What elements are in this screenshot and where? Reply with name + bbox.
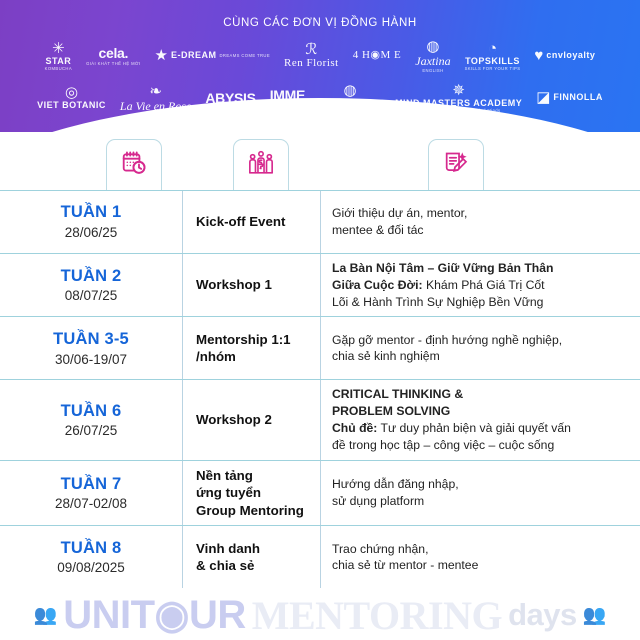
week-cell: TUẦN 3-530/06-19/07 bbox=[0, 323, 182, 374]
week-cell: TUẦN 809/08/2025 bbox=[0, 532, 182, 583]
sponsor-logo-tagline: ENGLISH bbox=[422, 69, 443, 73]
activity-description-cell: La Bàn Nội Tâm – Giữ Vững Bản ThânGiữa C… bbox=[320, 254, 640, 316]
sponsor-logo-tagline: DREAMS COME TRUE bbox=[220, 54, 271, 58]
activity-title-cell: Kick-off Event bbox=[182, 191, 320, 253]
sponsor-logo-name: FINNOLLA bbox=[553, 93, 603, 102]
watermark-unitour: UNIT◉UR bbox=[63, 592, 246, 638]
team-puzzle-icon bbox=[248, 150, 274, 181]
activity-description-line: Lõi & Hành Trình Sự Nghiệp Bền Vững bbox=[332, 294, 630, 311]
week-date: 28/07-02/08 bbox=[4, 495, 178, 513]
sponsor-logo: ◔TOPSKILLSSKILLS FOR YOUR TIPS bbox=[458, 41, 528, 72]
sponsor-logo-mark-icon: ◔ bbox=[488, 41, 497, 56]
week-label: TUẦN 8 bbox=[4, 538, 178, 559]
activity-title-line: Mentorship 1:1 bbox=[196, 331, 312, 349]
table-row: TUẦN 3-530/06-19/07Mentorship 1:1/nhómGặ… bbox=[0, 317, 640, 380]
week-cell: TUẦN 626/07/25 bbox=[0, 395, 182, 446]
people-icon-left: 👥 bbox=[34, 603, 58, 627]
sponsor-logo-mark-icon: ℛ bbox=[305, 42, 317, 57]
document-pencil-icon-cell bbox=[428, 139, 484, 190]
sponsor-logo-mark-icon: ◎ bbox=[65, 85, 78, 100]
sponsor-logo-mark-icon: ◍ bbox=[344, 83, 357, 98]
sponsor-logo-mark-icon: ★ bbox=[155, 48, 168, 63]
activity-description-line: Giữa Cuộc Đời: Khám Phá Giá Trị Cốt bbox=[332, 277, 630, 294]
sponsor-logo-name: 4 H◉M E bbox=[353, 50, 402, 62]
activity-title-line: ứng tuyển bbox=[196, 484, 312, 502]
sponsor-logo-name: E-DREAM bbox=[171, 51, 217, 60]
sponsor-logo: ◍JaxtinaENGLISH bbox=[408, 39, 457, 73]
activity-description-line: La Bàn Nội Tâm – Giữ Vững Bản Thân bbox=[332, 260, 630, 277]
week-date: 09/08/2025 bbox=[4, 559, 178, 577]
sponsor-logo: ◎VIET BOTANIC bbox=[30, 85, 113, 110]
watermark-days: days bbox=[508, 597, 577, 633]
sponsor-logo-tagline: KOMBUCHA bbox=[45, 67, 72, 71]
week-cell: TUẦN 728/07-02/08 bbox=[0, 468, 182, 519]
sponsor-logo: ✳STARKOMBUCHA bbox=[38, 41, 79, 72]
description-lead-label: Giữa Cuộc Đời: bbox=[332, 278, 423, 292]
week-cell: TUẦN 208/07/25 bbox=[0, 260, 182, 311]
banner-title: CÙNG CÁC ĐƠN VỊ ĐỒNG HÀNH bbox=[0, 17, 640, 29]
activity-title-line: /nhóm bbox=[196, 348, 312, 366]
team-puzzle-icon-cell bbox=[233, 139, 289, 190]
sponsor-logo: ♥cnvloyalty bbox=[527, 48, 602, 64]
sponsor-logo: ℛRen Florist bbox=[277, 42, 346, 70]
sponsor-logo-tagline: GIẢI KHÁT THẾ HỆ MỚI bbox=[86, 62, 140, 66]
activity-description-line: Giới thiệu dự án, mentor, bbox=[332, 205, 630, 222]
activity-description-cell: Hướng dẫn đăng nhập,sử dụng platform bbox=[320, 461, 640, 526]
document-pencil-icon bbox=[443, 150, 469, 181]
activity-title-line: Vinh danh bbox=[196, 540, 312, 558]
activity-description-cell: Trao chứng nhận,chia sẻ từ mentor - ment… bbox=[320, 526, 640, 588]
sponsor-logo: cela.GIẢI KHÁT THẾ HỆ MỚI bbox=[79, 46, 147, 66]
week-label: TUẦN 2 bbox=[4, 266, 178, 287]
activity-description-line: PROBLEM SOLVING bbox=[332, 403, 630, 420]
sponsor-logo-name: VIET BOTANIC bbox=[37, 101, 106, 110]
sponsor-logo-tagline: SKILLS FOR YOUR TIPS bbox=[465, 67, 521, 71]
activity-title-cell: Workshop 2 bbox=[182, 380, 320, 459]
schedule-table: TUẦN 128/06/25Kick-off EventGiới thiệu d… bbox=[0, 132, 640, 588]
schedule-rows: TUẦN 128/06/25Kick-off EventGiới thiệu d… bbox=[0, 190, 640, 588]
sponsor-logo-mark-icon: ◪ bbox=[536, 90, 550, 105]
table-row: TUẦN 128/06/25Kick-off EventGiới thiệu d… bbox=[0, 191, 640, 254]
table-row: TUẦN 809/08/2025Vinh danh& chia sẻTrao c… bbox=[0, 526, 640, 588]
activity-description-cell: Gặp gỡ mentor - định hướng nghề nghiệp,c… bbox=[320, 317, 640, 379]
week-label: TUẦN 1 bbox=[4, 202, 178, 223]
watermark-mentoring: MENTORING bbox=[252, 592, 502, 638]
activity-description-cell: Giới thiệu dự án, mentor,mentee & đối tá… bbox=[320, 191, 640, 253]
activity-title-line: Workshop 2 bbox=[196, 411, 312, 429]
people-icon-right: 👥 bbox=[583, 603, 607, 627]
sponsor-logo-name: TOPSKILLS bbox=[465, 57, 520, 66]
sponsor-banner: CÙNG CÁC ĐƠN VỊ ĐỒNG HÀNH ✳STARKOMBUCHAc… bbox=[0, 0, 640, 132]
activity-description-line: Trao chứng nhận, bbox=[332, 541, 630, 558]
sponsor-logo: 4 H◉M E bbox=[346, 50, 409, 62]
sponsor-logo-name: Jaxtina bbox=[415, 55, 450, 68]
week-label: TUẦN 3-5 bbox=[4, 329, 178, 350]
week-date: 28/06/25 bbox=[4, 224, 178, 242]
table-row: TUẦN 728/07-02/08Nền tảngứng tuyểnGroup … bbox=[0, 461, 640, 527]
activity-title-line: Kick-off Event bbox=[196, 213, 312, 231]
activity-title-line: Workshop 1 bbox=[196, 276, 312, 294]
week-cell: TUẦN 128/06/25 bbox=[0, 196, 182, 247]
sponsor-logo-name: cela. bbox=[98, 46, 128, 61]
activity-description-line: Gặp gỡ mentor - định hướng nghề nghiệp, bbox=[332, 332, 630, 349]
sponsor-logo-mark-icon: ❧ bbox=[149, 84, 162, 99]
activity-description-line: chia sẻ kinh nghiệm bbox=[332, 348, 630, 365]
week-label: TUẦN 7 bbox=[4, 474, 178, 495]
activity-description-line: Hướng dẫn đăng nhập, bbox=[332, 476, 630, 493]
activity-title-cell: Workshop 1 bbox=[182, 254, 320, 316]
week-date: 30/06-19/07 bbox=[4, 351, 178, 369]
calendar-clock-icon-cell bbox=[106, 139, 162, 190]
week-date: 26/07/25 bbox=[4, 422, 178, 440]
watermark: 👥 UNIT◉UR MENTORING days 👥 bbox=[0, 592, 640, 638]
activity-description-line: đề trong học tập – công việc – cuộc sống bbox=[332, 437, 630, 454]
activity-description-line: Chủ đề: Tư duy phản biện và giải quyết v… bbox=[332, 420, 630, 437]
activity-description-cell: CRITICAL THINKING &PROBLEM SOLVINGChủ đề… bbox=[320, 380, 640, 459]
table-icon-header bbox=[0, 132, 640, 190]
sponsor-logo-name: STAR bbox=[45, 57, 71, 66]
sponsor-logo-mark-icon: ♥ bbox=[534, 48, 543, 63]
activity-title-line: Group Mentoring bbox=[196, 502, 312, 520]
description-lead-label: Chủ đề: bbox=[332, 421, 377, 435]
table-row: TUẦN 208/07/25Workshop 1La Bàn Nội Tâm –… bbox=[0, 254, 640, 317]
sponsor-logo-row-1: ✳STARKOMBUCHAcela.GIẢI KHÁT THẾ HỆ MỚI★E… bbox=[0, 36, 640, 76]
sponsor-logo-name: cnvloyalty bbox=[546, 51, 595, 60]
activity-description-line: CRITICAL THINKING & bbox=[332, 386, 630, 403]
calendar-clock-icon bbox=[121, 150, 147, 181]
table-row: TUẦN 626/07/25Workshop 2CRITICAL THINKIN… bbox=[0, 380, 640, 460]
activity-title-cell: Nền tảngứng tuyểnGroup Mentoring bbox=[182, 461, 320, 526]
activity-description-line: mentee & đối tác bbox=[332, 222, 630, 239]
activity-description-line: chia sẻ từ mentor - mentee bbox=[332, 557, 630, 574]
week-date: 08/07/25 bbox=[4, 287, 178, 305]
activity-title-line: Nền tảng bbox=[196, 467, 312, 485]
sponsor-logo-mark-icon: ✳ bbox=[52, 41, 65, 56]
sponsor-logo-mark-icon: ✵ bbox=[452, 83, 465, 98]
activity-title-cell: Mentorship 1:1/nhóm bbox=[182, 317, 320, 379]
activity-title-line: & chia sẻ bbox=[196, 557, 312, 575]
sponsor-logo-mark-icon: ◍ bbox=[426, 39, 439, 54]
week-label: TUẦN 6 bbox=[4, 401, 178, 422]
sponsor-logo-name: Ren Florist bbox=[284, 58, 339, 70]
sponsor-logo: ★E-DREAMDREAMS COME TRUE bbox=[148, 48, 277, 64]
activity-description-line: sử dụng platform bbox=[332, 493, 630, 510]
activity-title-cell: Vinh danh& chia sẻ bbox=[182, 526, 320, 588]
sponsor-logo: ◪FINNOLLA bbox=[529, 90, 610, 106]
